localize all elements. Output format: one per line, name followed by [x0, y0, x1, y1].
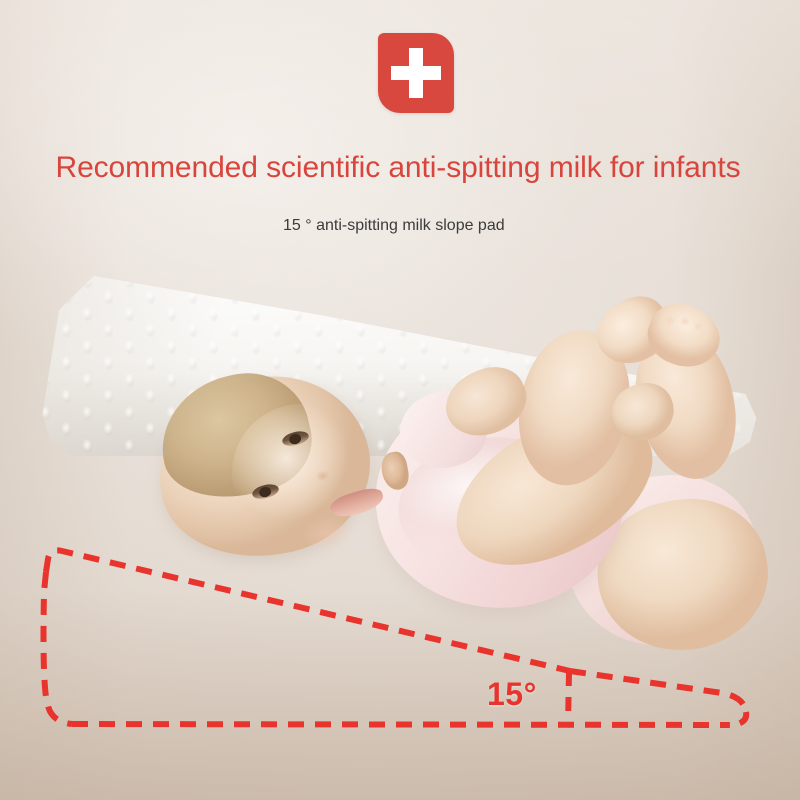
subtitle-text: 15 ° anti-spitting milk slope pad [283, 215, 505, 236]
product-marketing-image: Recommended scientific anti-spitting mil… [0, 0, 800, 800]
angle-label: 15° [487, 676, 537, 713]
medical-cross-icon [378, 33, 454, 113]
cross-vertical-bar [409, 48, 423, 98]
headline-text: Recommended scientific anti-spitting mil… [0, 148, 796, 188]
